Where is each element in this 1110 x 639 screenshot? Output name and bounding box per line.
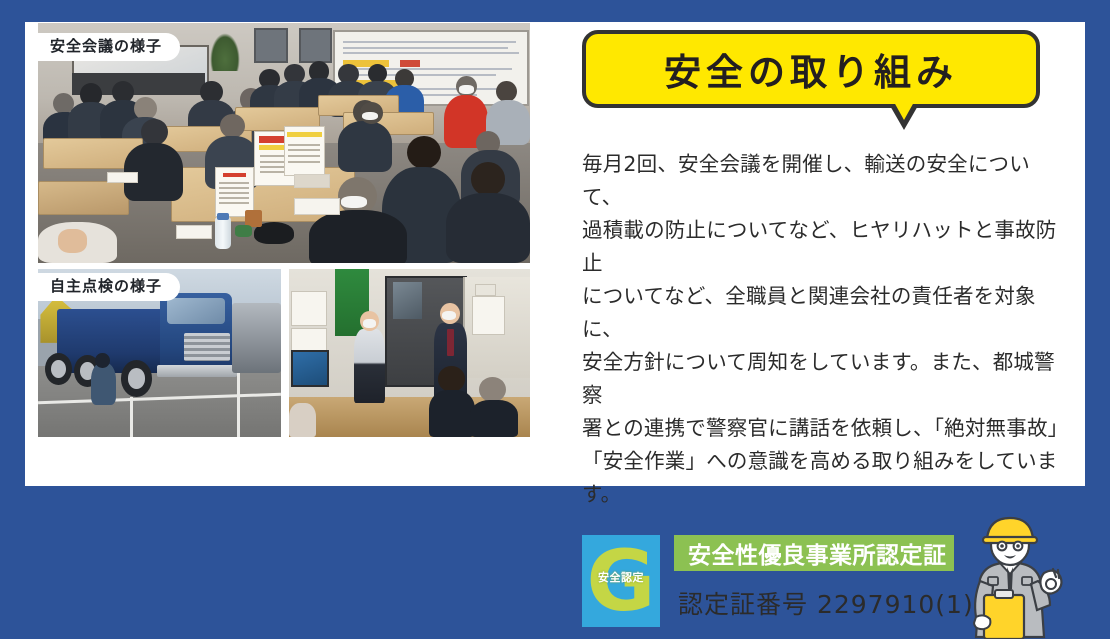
description-line: 「安全作業」への意識を高める取り組みをしています。 [582,445,1064,511]
windshield [167,298,225,325]
g-mark-logo: G 安全認定 [582,535,660,627]
seated-person-body [470,400,518,437]
balloon-body: 安全の取り組み [582,30,1040,108]
photo-police-lecture [289,269,530,437]
wall-poster [291,291,327,327]
necktie [447,329,454,356]
photo-safety-meeting: 安全会議の様子 [38,23,530,263]
worker-head [95,353,110,368]
desk-item [235,225,252,237]
headline-balloon: 安全の取り組み [582,30,1040,142]
seated-person-body [289,403,316,437]
door-window [393,282,422,319]
worker-mascot-icon [954,511,1066,639]
certification-number: 認定証番号 2297910(1) [678,585,974,621]
certification-banner: 安全性優良事業所認定証 [674,535,954,571]
attendee-head [496,81,517,103]
content-column: 安全の取り組み 毎月2回、安全会議を開催し、輸送の安全について、 過積載の防止に… [582,30,1074,637]
paper [176,225,212,239]
truck-wheel [45,353,72,385]
description-line: 毎月2回、安全会議を開催し、輸送の安全について、 [582,148,1064,214]
face-mask [341,196,368,208]
bottle-cap [217,213,229,220]
photo-truck-inspection: 自主点検の様子 [38,269,281,437]
parking-line [130,397,133,437]
window-right [299,28,333,63]
certification-banner-label: 安全性優良事業所認定証 [674,536,947,570]
page-title: 安全の取り組み [664,42,958,96]
paper [294,198,340,214]
meeting-table [38,181,129,214]
divider-sign [284,126,325,176]
truck-wheel-inspected [121,360,153,397]
seated-person-head [438,366,465,391]
police-officer-body [354,329,385,403]
computer-monitor [291,350,329,388]
front-grille [184,333,230,362]
attendee-head [220,114,245,138]
face-mask [442,311,456,320]
balloon-tail-fill [894,102,914,120]
photo-collage: 安全会議の様子 自主点検の様子 [38,23,530,459]
seated-person-head [479,377,506,402]
attendee-head [141,119,168,145]
description-line: 署との連携で警察官に講話を依頼し、「絶対無事故」 [582,412,1064,445]
seated-person-body [429,390,475,437]
description-text: 毎月2回、安全会議を開催し、輸送の安全について、 過積載の防止についてなど、ヒヤ… [582,148,1064,511]
description-line: 過積載の防止についてなど、ヒヤリハットと事故防止 [582,214,1064,280]
description-line: についてなど、全職員と関連会社の責任者を対象に、 [582,280,1064,346]
wall-poster [472,296,505,335]
hands [58,229,88,253]
face-mask [363,319,376,327]
description-line: 安全方針について周知をしています。また、都城警察 [582,346,1064,412]
worker-body [91,363,115,405]
attendee-body-front [309,210,407,263]
paper [107,172,139,184]
certification-block: G 安全認定 安全性優良事業所認定証 認定証番号 2297910(1) [582,533,1074,637]
caption-safety-meeting: 安全会議の様子 [38,33,180,61]
attendee-body [338,121,392,171]
caption-self-inspection: 自主点検の様子 [38,273,180,301]
sanitizer-bottle [215,217,231,248]
paper-stack [294,174,330,188]
front-bumper [157,365,237,377]
potted-plant [210,33,240,71]
page-frame: 安全会議の様子 自主点検の様子 [0,0,1110,508]
wall-sign [475,284,496,296]
adjacent-truck [232,303,281,374]
attendee-head-front [471,162,505,196]
parking-line [237,373,240,437]
g-mark-label: 安全認定 [598,569,644,585]
attendee-body-front [446,193,530,263]
face-mask [459,85,474,93]
window-left [254,28,288,63]
